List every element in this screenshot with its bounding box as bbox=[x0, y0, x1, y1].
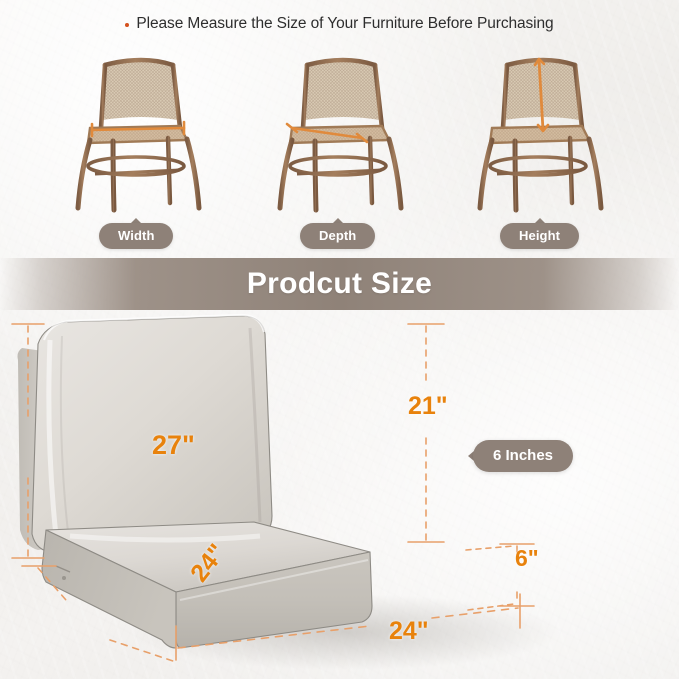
chair-label-height: Height bbox=[500, 218, 579, 249]
banner-title: Prodcut Size bbox=[247, 267, 432, 301]
chair-illustration-width bbox=[68, 48, 218, 223]
chair-illustration-height bbox=[470, 48, 620, 223]
six-inches-callout: 6 Inches bbox=[468, 440, 573, 472]
six-inches-callout-text: 6 Inches bbox=[473, 440, 573, 472]
chair-label-depth: Depth bbox=[300, 218, 375, 249]
header-notice: Please Measure the Size of Your Furnitur… bbox=[0, 13, 679, 33]
header-notice-text: Please Measure the Size of Your Furnitur… bbox=[136, 15, 553, 33]
dimension-label-back-height: 21" bbox=[408, 392, 448, 421]
bullet-dot-icon bbox=[125, 23, 129, 27]
dimension-label-total-height: 27" bbox=[152, 430, 195, 461]
chair-label-depth-text: Depth bbox=[300, 223, 375, 249]
dimension-label-width: 24" bbox=[389, 617, 429, 646]
product-cushion-diagram: 6 Inches bbox=[0, 310, 679, 679]
chair-label-width-text: Width bbox=[99, 223, 173, 249]
chair-label-width: Width bbox=[99, 218, 173, 249]
chair-illustration-depth bbox=[270, 48, 420, 223]
dimension-label-seat-thickness: 6" bbox=[515, 545, 539, 572]
product-size-infographic: Please Measure the Size of Your Furnitur… bbox=[0, 0, 679, 679]
product-size-banner: Prodcut Size bbox=[0, 258, 679, 310]
chair-label-height-text: Height bbox=[500, 223, 579, 249]
